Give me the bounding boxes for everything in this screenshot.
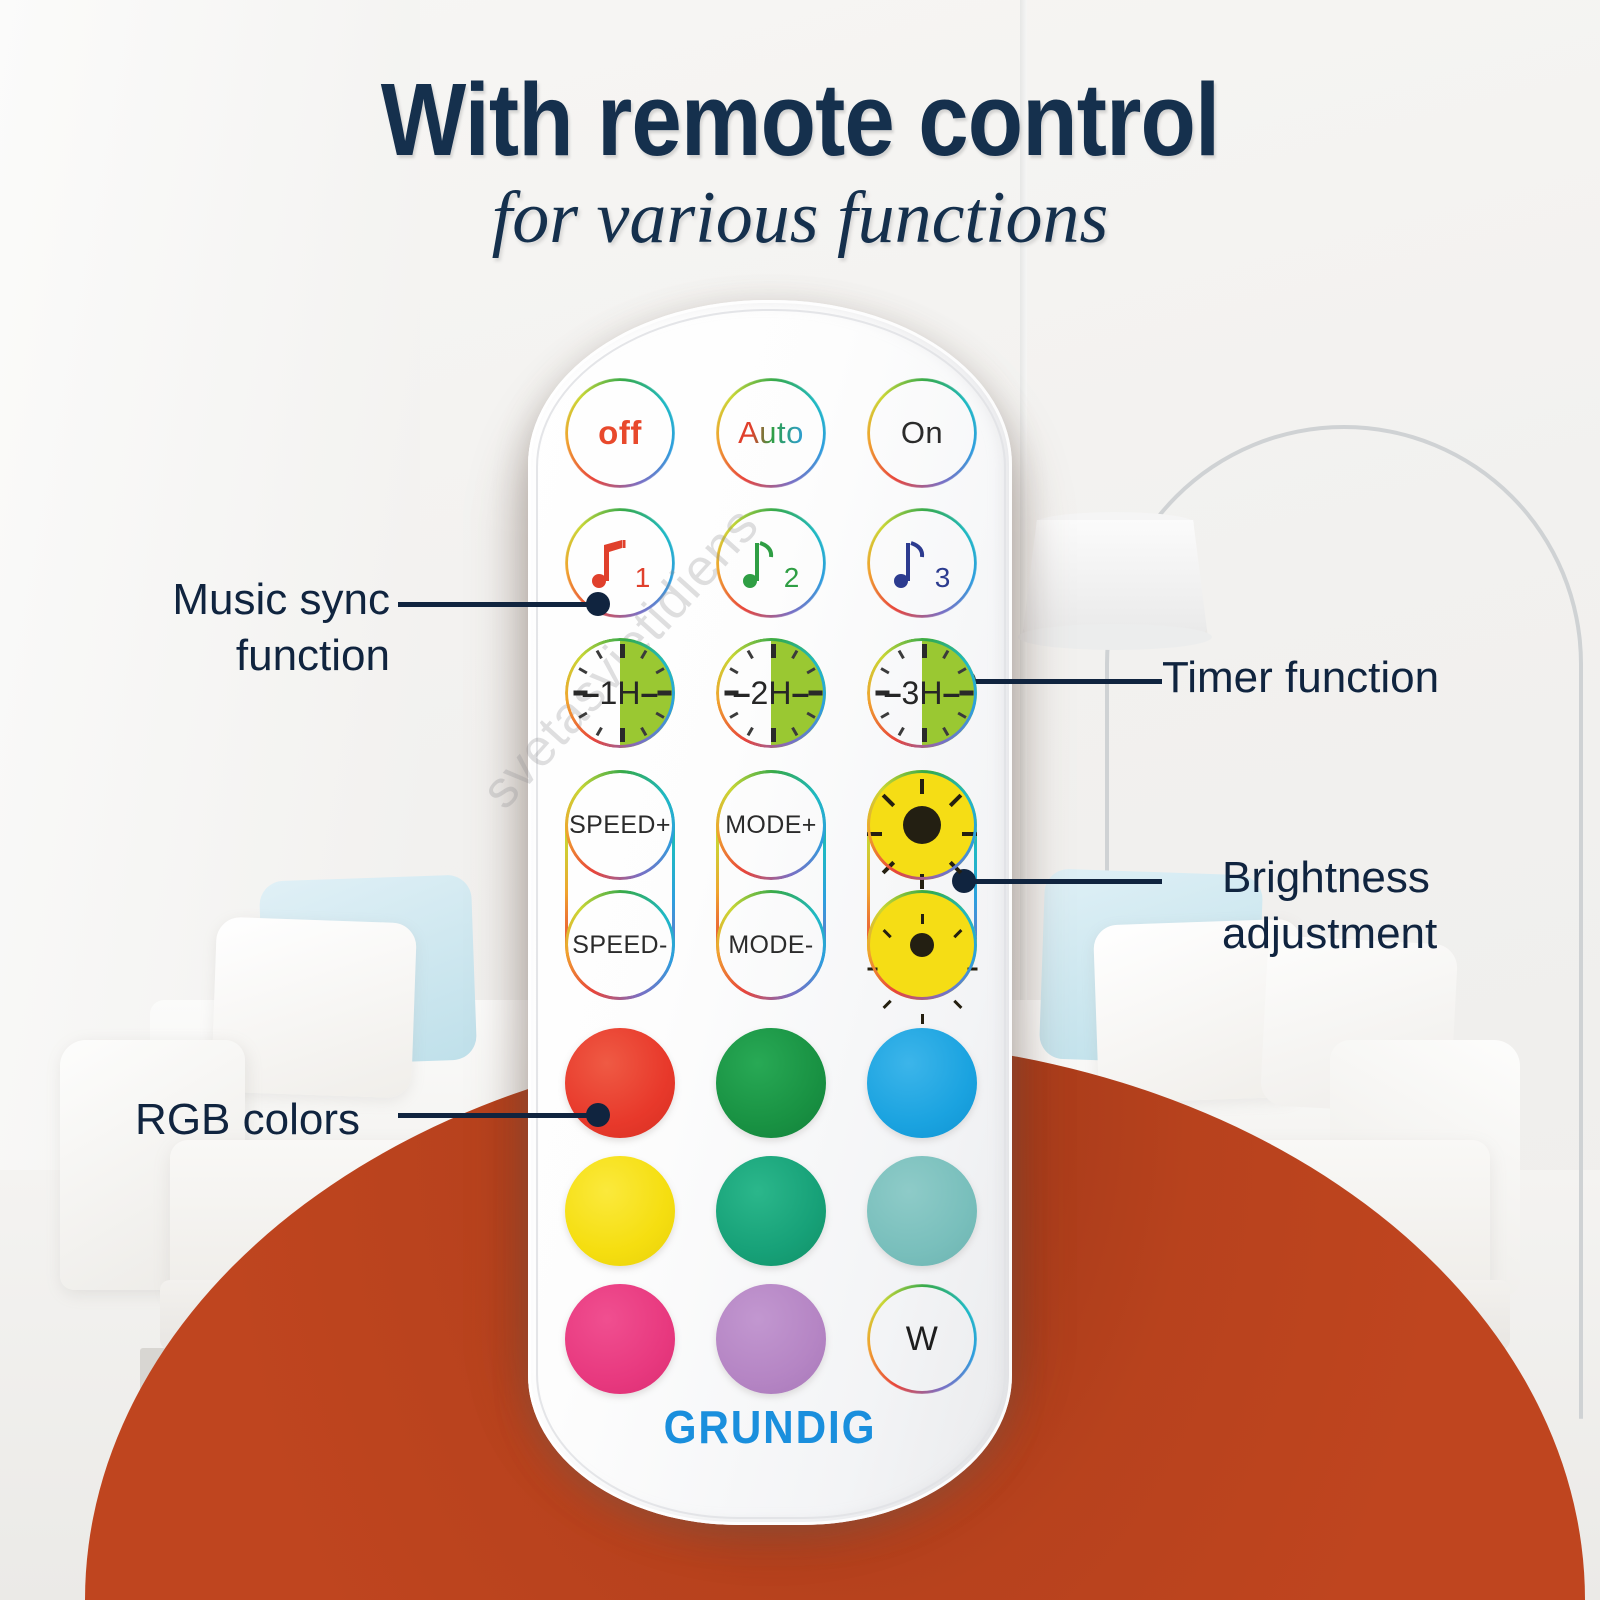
color-button-blue[interactable] <box>867 1028 977 1138</box>
color-button-light-teal[interactable] <box>867 1156 977 1266</box>
callout-timer-line1: Timer function <box>1162 650 1582 706</box>
row-colors-1 <box>565 1028 977 1138</box>
button-music-2[interactable]: 2 <box>716 508 826 618</box>
row-power: off Auto On <box>565 378 977 488</box>
callout-brightness-line2: adjustment <box>1222 906 1600 962</box>
callout-music-sync-line2: function <box>60 628 390 684</box>
speed-control-pair: SPEED+ SPEED- <box>565 770 675 1000</box>
brightness-up-icon <box>867 770 977 880</box>
remote-button-grid: off Auto On 1 2 <box>565 378 977 1378</box>
row-colors-3: W <box>565 1284 977 1394</box>
button-auto-label: Auto <box>738 415 804 451</box>
button-mode-up-label: MODE+ <box>725 811 817 840</box>
leader-line-music-sync <box>398 602 598 607</box>
music-note-icon: 1 <box>590 537 651 589</box>
color-button-red[interactable] <box>565 1028 675 1138</box>
lamp-shade <box>1022 520 1208 638</box>
leader-line-brightness <box>962 879 1162 884</box>
page-title: With remote control <box>96 68 1504 171</box>
button-speed-up-label: SPEED+ <box>569 811 671 840</box>
leader-dot-rgb-colors <box>586 1103 610 1127</box>
music-2-number: 2 <box>784 564 800 592</box>
clock-ticks <box>716 638 826 748</box>
button-auto[interactable]: Auto <box>716 378 826 488</box>
music-note-icon: 3 <box>894 537 951 589</box>
button-on-label: On <box>901 415 943 451</box>
button-speed-down-label: SPEED- <box>572 931 667 960</box>
button-timer-2h[interactable]: –2H– <box>716 638 826 748</box>
color-button-white-label: W <box>906 1320 939 1359</box>
button-timer-3h-label: –3H– <box>884 675 961 712</box>
row-timer: –1H– –2H– –3H– <box>565 638 977 748</box>
brightness-down-icon <box>867 890 977 1000</box>
button-music-3[interactable]: 3 <box>867 508 977 618</box>
button-timer-1h-label: –1H– <box>582 675 659 712</box>
button-timer-1h[interactable]: –1H– <box>565 638 675 748</box>
button-on[interactable]: On <box>867 378 977 488</box>
leader-line-timer <box>962 679 1162 684</box>
leader-line-rgb-colors <box>398 1113 598 1118</box>
button-brightness-up[interactable] <box>867 770 977 880</box>
button-mode-down[interactable]: MODE- <box>716 890 826 1000</box>
color-button-yellow[interactable] <box>565 1156 675 1266</box>
callout-brightness-line1: Brightness <box>1222 850 1600 906</box>
music-note-icon: 2 <box>743 537 800 589</box>
row-music-sync: 1 2 3 <box>565 508 977 618</box>
callout-timer: Timer function <box>1162 650 1582 706</box>
mode-control-pair: MODE+ MODE- <box>716 770 826 1000</box>
callout-rgb-colors-line1: RGB colors <box>60 1092 360 1148</box>
color-button-green[interactable] <box>716 1028 826 1138</box>
button-brightness-down[interactable] <box>867 890 977 1000</box>
callout-music-sync-line1: Music sync <box>60 572 390 628</box>
color-button-purple[interactable] <box>716 1284 826 1394</box>
button-off[interactable]: off <box>565 378 675 488</box>
row-controls: SPEED+ SPEED- MODE+ MODE- <box>565 770 977 1000</box>
callout-rgb-colors: RGB colors <box>60 1092 360 1148</box>
button-speed-up[interactable]: SPEED+ <box>565 770 675 880</box>
button-mode-down-label: MODE- <box>728 931 813 960</box>
button-off-label: off <box>598 414 642 452</box>
button-timer-3h[interactable]: –3H– <box>867 638 977 748</box>
button-timer-2h-label: –2H– <box>733 675 810 712</box>
leader-dot-music-sync <box>586 592 610 616</box>
callout-music-sync: Music sync function <box>60 572 390 685</box>
sun-core-small <box>910 933 934 957</box>
color-button-teal-green[interactable] <box>716 1156 826 1266</box>
button-mode-up[interactable]: MODE+ <box>716 770 826 880</box>
color-button-pink[interactable] <box>565 1284 675 1394</box>
page-subtitle: for various functions <box>0 176 1600 261</box>
lamp-shade-bottom <box>1018 624 1212 650</box>
music-3-number: 3 <box>935 564 951 592</box>
clock-ticks <box>867 638 977 748</box>
sun-core-large <box>903 806 941 844</box>
color-button-white[interactable]: W <box>867 1284 977 1394</box>
button-speed-down[interactable]: SPEED- <box>565 890 675 1000</box>
clock-ticks <box>565 638 675 748</box>
callout-brightness: Brightness adjustment <box>1222 850 1600 963</box>
music-1-number: 1 <box>635 564 651 592</box>
row-colors-2 <box>565 1156 977 1266</box>
